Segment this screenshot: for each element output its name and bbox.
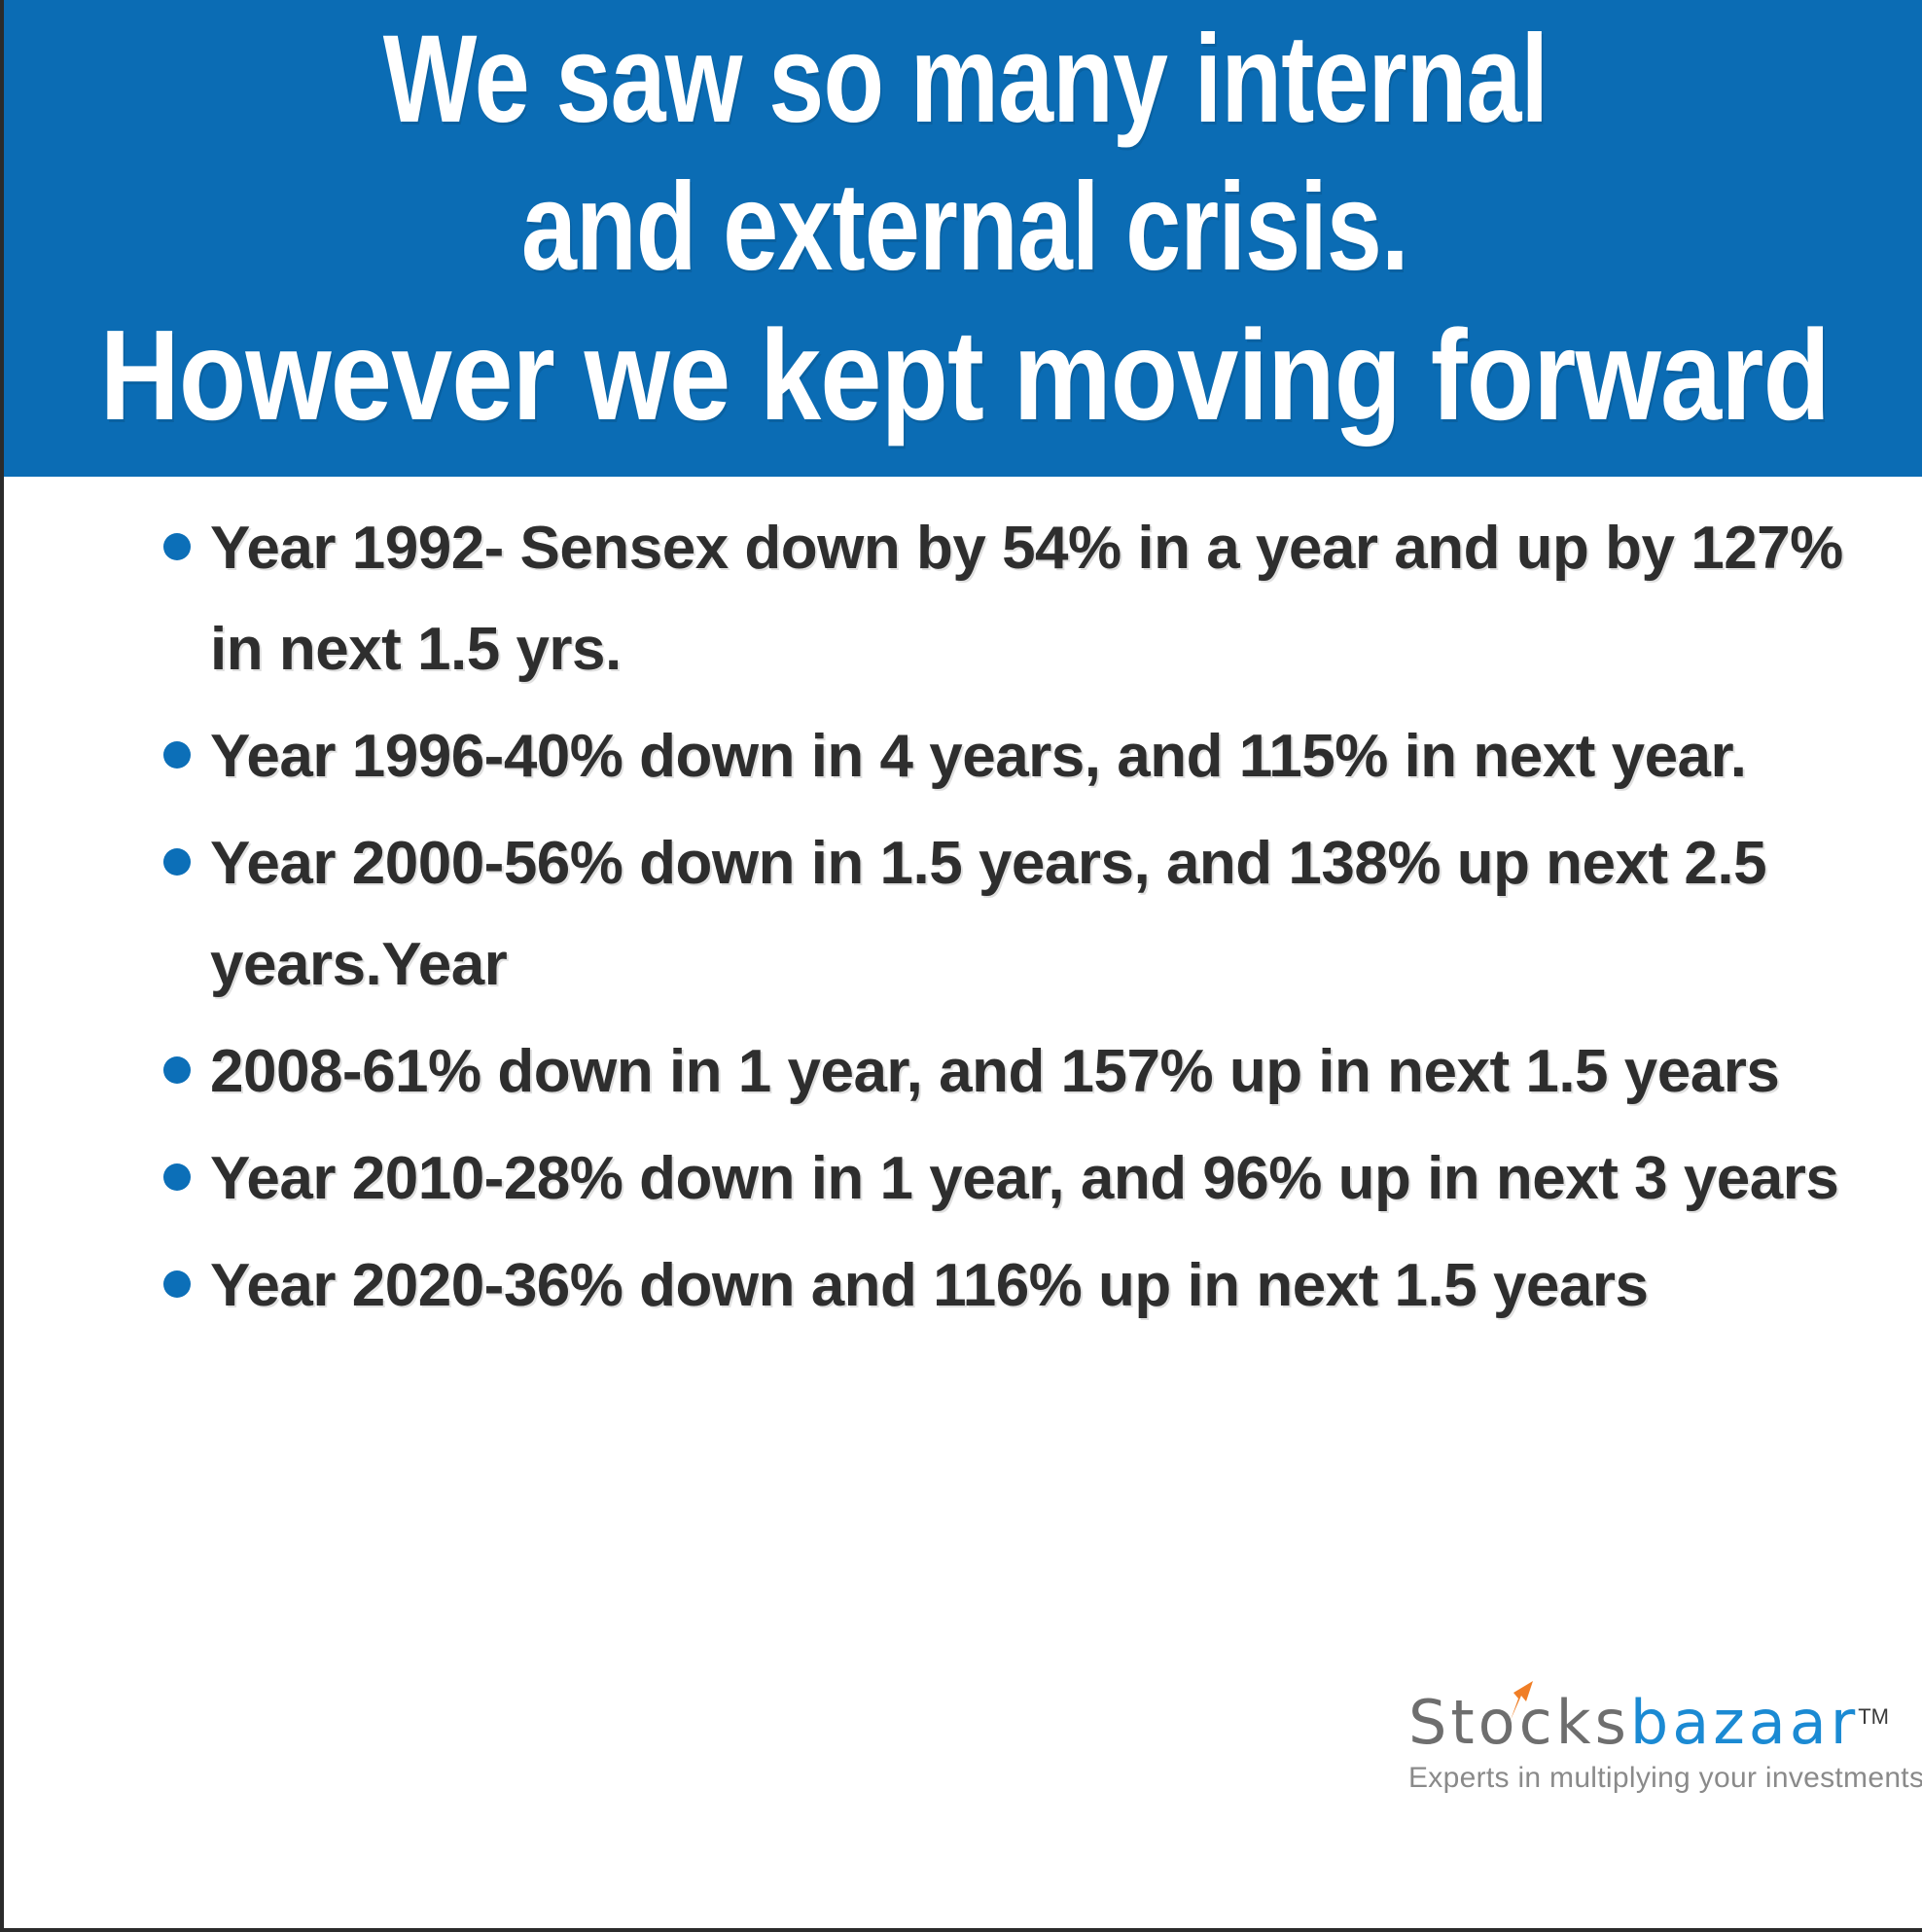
list-item-label: Year 2010-28% down in 1 year, and 96% up… bbox=[210, 1145, 1838, 1212]
list-item: Year 1996-40% down in 4 years, and 115% … bbox=[150, 706, 1891, 807]
list-item: Year 2000-56% down in 1.5 years, and 138… bbox=[150, 813, 1891, 1016]
list-item-label: Year 1992- Sensex down by 54% in a year … bbox=[210, 515, 1843, 683]
bullet-dot-icon bbox=[163, 1056, 191, 1084]
logo-wordmark: Stocksbazaar TM bbox=[1408, 1688, 1885, 1758]
header-banner: We saw so many internal and external cri… bbox=[4, 0, 1922, 477]
bullet-dot-icon bbox=[163, 533, 191, 560]
header-title-line-2: and external crisis. bbox=[521, 154, 1408, 302]
bullet-dot-icon bbox=[163, 848, 191, 876]
trademark-symbol: TM bbox=[1858, 1682, 1889, 1752]
list-item: Year 1992- Sensex down by 54% in a year … bbox=[150, 498, 1891, 700]
list-item-label: 2008-61% down in 1 year, and 157% up in … bbox=[210, 1038, 1779, 1105]
header-title-line-3: However we kept moving forward bbox=[100, 302, 1830, 449]
bullet-dot-icon bbox=[163, 741, 191, 769]
list-item-label: Year 1996-40% down in 4 years, and 115% … bbox=[210, 723, 1746, 790]
arrow-up-right-icon bbox=[1498, 1666, 1537, 1709]
logo-tagline: Experts in multiplying your investments bbox=[1408, 1762, 1885, 1795]
logo-word-bazaar: bazaar bbox=[1630, 1687, 1859, 1758]
infographic-slide: We saw so many internal and external cri… bbox=[0, 0, 1922, 1932]
bullet-dot-icon bbox=[163, 1163, 191, 1191]
list-item: 2008-61% down in 1 year, and 157% up in … bbox=[150, 1021, 1891, 1123]
list-item-label: Year 2020-36% down and 116% up in next 1… bbox=[210, 1252, 1649, 1319]
crisis-bullet-list: Year 1992- Sensex down by 54% in a year … bbox=[150, 498, 1891, 1342]
bullet-dot-icon bbox=[163, 1270, 191, 1298]
list-item: Year 2010-28% down in 1 year, and 96% up… bbox=[150, 1128, 1891, 1230]
list-item: Year 2020-36% down and 116% up in next 1… bbox=[150, 1235, 1891, 1337]
stocksbazaar-logo[interactable]: Stocksbazaar TM Experts in multiplying y… bbox=[1408, 1688, 1885, 1853]
list-item-label: Year 2000-56% down in 1.5 years, and 138… bbox=[210, 830, 1766, 998]
header-title-line-1: We saw so many internal bbox=[382, 6, 1548, 154]
